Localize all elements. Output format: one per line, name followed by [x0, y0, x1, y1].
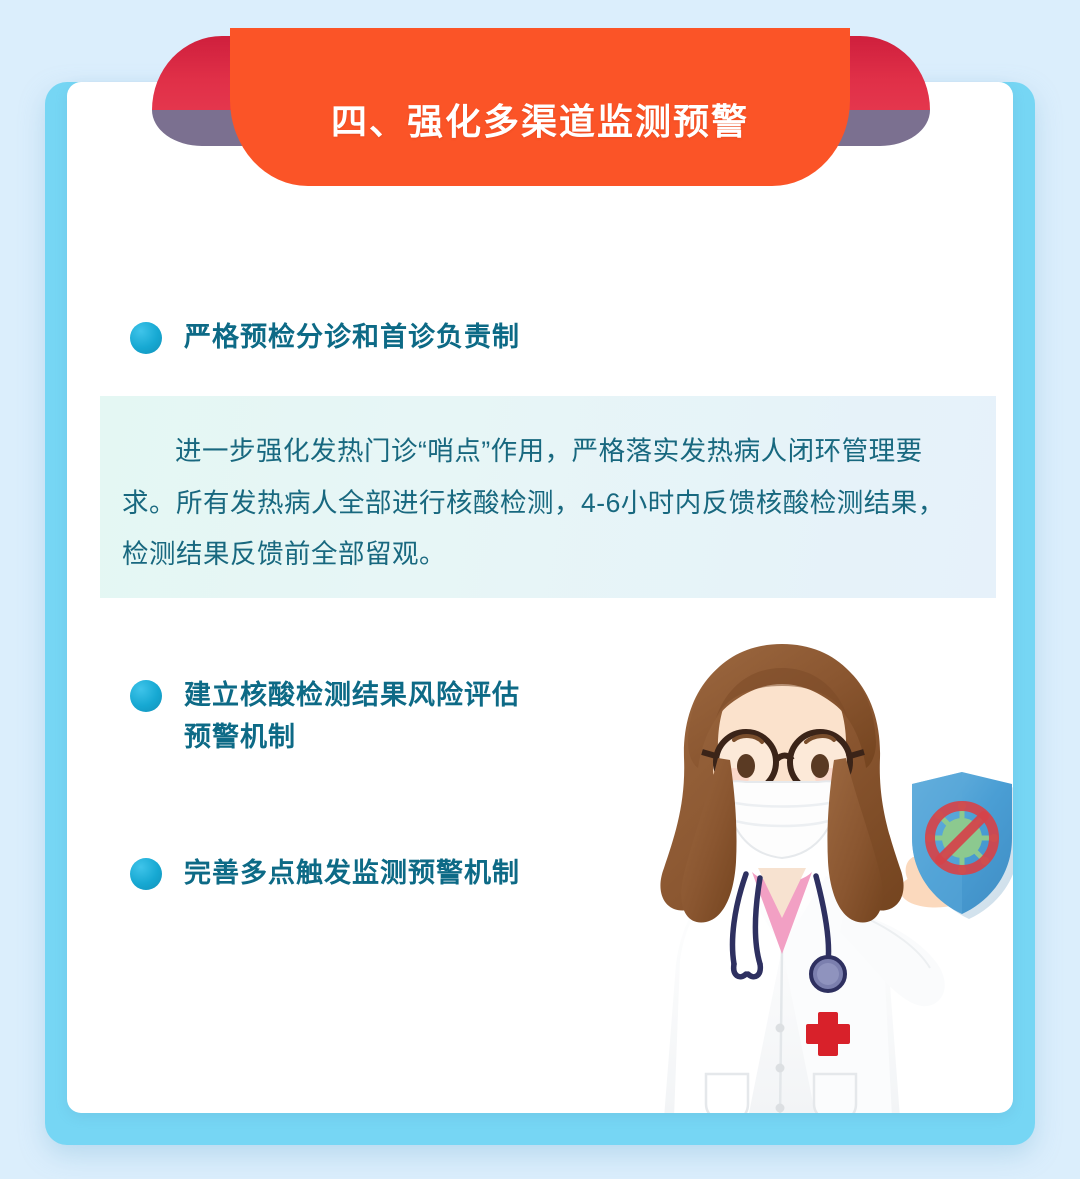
paragraph-text: 进一步强化发热门诊“哨点”作用，严格落实发热病人闭环管理要求。所有发热病人全部进… — [122, 426, 970, 581]
bullet-label-2-line2: 预警机制 — [184, 717, 520, 759]
bullet-item-1: 严格预检分诊和首诊负责制 — [130, 317, 520, 359]
bullet-dot-icon — [130, 680, 162, 712]
bullet-dot-icon — [130, 322, 162, 354]
bullet-label-3: 完善多点触发监测预警机制 — [184, 853, 520, 895]
bullet-item-3: 完善多点触发监测预警机制 — [130, 853, 520, 895]
bullet-label-1: 严格预检分诊和首诊负责制 — [184, 317, 520, 359]
female-doctor-illustration — [630, 618, 1013, 1113]
bullet-item-2: 建立核酸检测结果风险评估 预警机制 — [130, 675, 520, 759]
content-card: 严格预检分诊和首诊负责制 进一步强化发热门诊“哨点”作用，严格落实发热病人闭环管… — [67, 82, 1013, 1113]
bullet-label-2-line1: 建立核酸检测结果风险评估 — [184, 675, 520, 717]
bullet-dot-icon — [130, 858, 162, 890]
paragraph-panel: 进一步强化发热门诊“哨点”作用，严格落实发热病人闭环管理要求。所有发热病人全部进… — [100, 396, 996, 598]
